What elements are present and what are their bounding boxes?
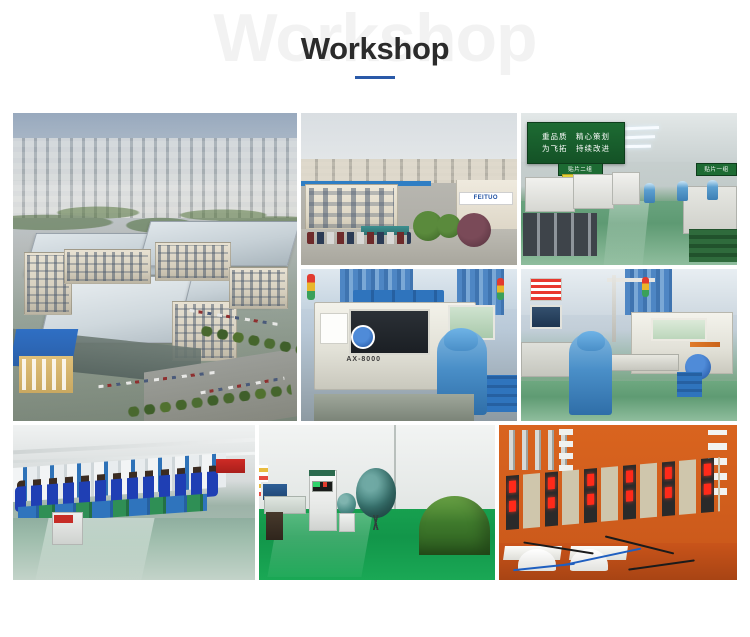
photo-tile-factory-exterior[interactable]: FEITUO — [301, 113, 517, 265]
andon-signal-tower — [642, 277, 649, 297]
banner-line-2: 为飞拓 持续改进 — [542, 143, 610, 155]
blue-storage-bin — [677, 372, 703, 396]
andon-signal-tower — [307, 274, 315, 300]
smt-machine — [525, 177, 575, 212]
wall-notice-chart — [530, 278, 562, 301]
photo-tile-reflow-oven[interactable] — [521, 269, 737, 421]
company-sign: FEITUO — [459, 192, 513, 205]
courtyard-tree — [457, 213, 491, 247]
small-integrating-sphere — [337, 493, 356, 515]
photo-tile-factory-campus-aerial[interactable] — [13, 113, 297, 421]
factory-exterior-photo: FEITUO — [301, 113, 517, 265]
measurement-cabinet — [309, 470, 337, 531]
smt-machine-operator-photo: AX-8000 — [301, 269, 517, 421]
factory-campus-aerial-photo — [13, 113, 297, 421]
oven-warning-strip — [690, 342, 720, 347]
lab-chair — [266, 512, 283, 540]
factory-floor — [13, 518, 255, 580]
photo-tile-assembly-line[interactable] — [13, 425, 255, 580]
andon-signal-tower — [497, 278, 504, 300]
gantry-post — [612, 275, 616, 342]
page-title: Workshop — [301, 31, 450, 67]
photo-tile-smt-operator[interactable]: AX-8000 — [301, 269, 517, 421]
line-worker — [677, 181, 688, 201]
production-line-photo: 重品质 精心策划 为飞拓 持续改进 贴片二组 贴片一组 — [521, 113, 737, 265]
gallery-bottom-grid — [13, 425, 737, 580]
title-underline-accent — [355, 76, 395, 79]
sphere-stand — [339, 513, 355, 532]
green-indicator-led — [313, 482, 320, 487]
cart-red-label — [54, 515, 73, 523]
photo-tile-production-line[interactable]: 重品质 精心策划 为飞拓 持续改进 贴片二组 贴片一组 — [521, 113, 737, 265]
section-header: Workshop Workshop — [0, 0, 750, 100]
gallery-top-grid: FEITUO — [13, 113, 737, 421]
line-worker — [644, 183, 655, 203]
gallery-row-two: AX-8000 — [301, 269, 737, 421]
smt-machine — [573, 174, 614, 209]
aging-test-rack-photo — [499, 425, 737, 580]
large-integrating-sphere — [356, 468, 396, 518]
blue-storage-bin — [487, 375, 517, 411]
reflow-oven-operator-photo — [521, 269, 737, 421]
workshop-page: Workshop Workshop — [0, 0, 750, 637]
banner-line-1: 重品质 精心策划 — [542, 131, 610, 143]
posted-work-instruction — [320, 313, 348, 344]
quality-slogan-banner: 重品质 精心策划 为飞拓 持续改进 — [527, 122, 624, 164]
photo-tile-photometric-lab[interactable] — [259, 425, 495, 580]
operator-cleanroom-cap — [577, 331, 605, 351]
tube-end-caps — [559, 428, 573, 471]
yellow-building — [19, 356, 73, 393]
wall-red-sign — [216, 459, 245, 473]
line-worker — [707, 180, 718, 200]
page-title-wrap: Workshop — [0, 31, 750, 67]
oven-viewing-window — [651, 318, 707, 342]
gallery-row-one: FEITUO — [301, 113, 737, 265]
green-epoxy-floor — [521, 381, 737, 421]
workshop-photo-gallery: FEITUO — [13, 113, 737, 580]
office-block — [64, 249, 151, 285]
assembly-line-workers-photo — [13, 425, 255, 580]
operator-cleanroom-cap — [444, 328, 479, 351]
red-indicator-led — [323, 482, 328, 487]
parked-cars-row — [307, 232, 411, 244]
photo-tile-aging-test-rack[interactable] — [499, 425, 737, 580]
inspection-monitor — [530, 305, 562, 329]
pcb-magazine-racks — [523, 213, 596, 256]
machine-base — [314, 394, 474, 421]
cabinet-top-panel — [309, 470, 335, 476]
office-block — [229, 267, 288, 309]
office-block — [155, 242, 231, 281]
smt-machine — [612, 172, 640, 204]
gallery-right-columns: FEITUO — [301, 113, 737, 421]
green-storage-bins — [689, 229, 737, 262]
station-sign-right: 贴片一组 — [696, 163, 737, 176]
sphere-support-legs — [363, 515, 389, 531]
conveyor-section — [607, 354, 678, 371]
photometric-lab-photo — [259, 425, 495, 580]
machine-model-label: AX-8000 — [346, 356, 381, 363]
machine-badge-icon — [351, 325, 375, 349]
